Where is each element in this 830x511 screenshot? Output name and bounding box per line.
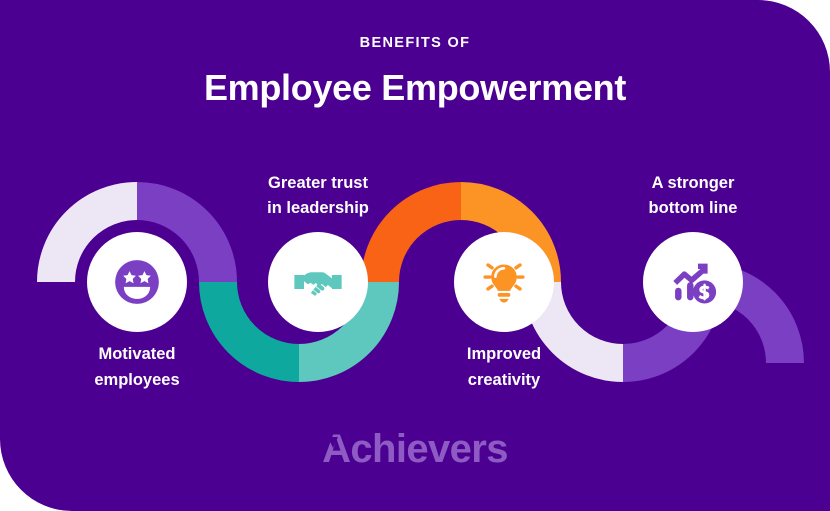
node-circle [643,232,743,332]
achievers-logo-text: chievers [350,427,508,471]
node-improved-creativity[interactable]: Improved creativity [454,232,554,332]
node-circle [268,232,368,332]
node-motivated-employees[interactable]: Motivated employees [87,232,187,332]
node-label: Motivated employees [42,342,232,393]
infographic-canvas: BENEFITS OF Employee Empowerment Motivat… [0,0,830,511]
node-a-stronger-bottom-line[interactable]: A stronger bottom line [643,232,743,332]
growth-chart-dollar-icon [665,254,721,310]
achievers-logo: Achievers [0,429,830,469]
handshake-icon [290,254,346,310]
node-circle [87,232,187,332]
achievers-logo-mark: A [322,429,350,469]
lightbulb-icon [476,254,532,310]
node-circle [454,232,554,332]
smiley-star-eyes-icon [109,254,165,310]
node-label: Improved creativity [409,342,599,393]
node-label: A stronger bottom line [598,171,788,222]
node-label: Greater trust in leadership [223,171,413,222]
node-greater-trust-in-leadership[interactable]: Greater trust in leadership [268,232,368,332]
